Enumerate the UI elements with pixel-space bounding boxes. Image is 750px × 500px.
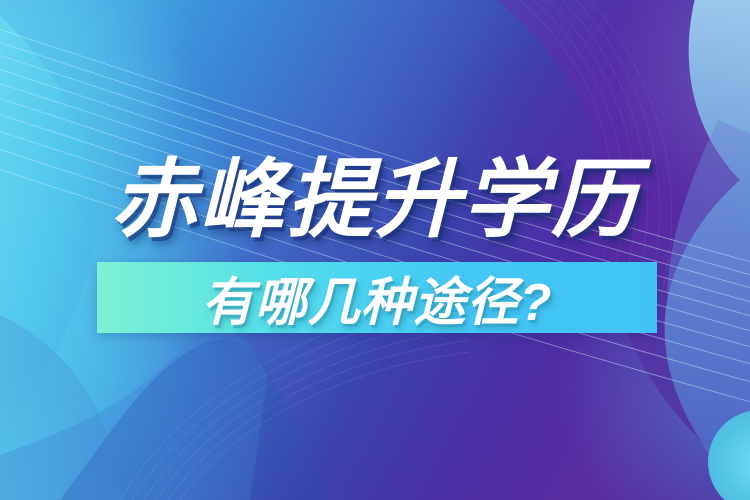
promo-banner: 赤峰提升学历 有哪几种途径? [0,0,750,500]
page-subtitle: 有哪几种途径? [97,262,657,333]
page-title: 赤峰提升学历 [0,150,750,250]
banner-content: 赤峰提升学历 有哪几种途径? [0,0,750,500]
